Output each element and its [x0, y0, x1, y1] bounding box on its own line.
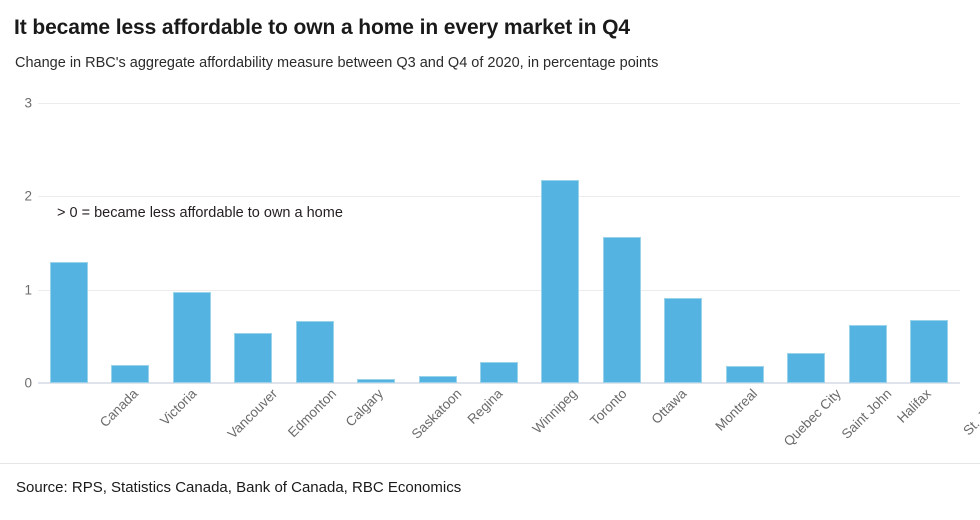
bar[interactable] — [849, 325, 887, 383]
chart-subtitle: Change in RBC's aggregate affordability … — [15, 55, 658, 71]
y-axis-tick-label: 3 — [2, 96, 32, 111]
bar[interactable] — [419, 376, 457, 383]
bar[interactable] — [50, 262, 88, 383]
x-axis-category-label: Montreal — [713, 386, 761, 434]
x-axis-category-label: Canada — [97, 386, 141, 430]
bar[interactable] — [234, 333, 272, 383]
x-axis-category-label: Quebec City — [781, 386, 844, 449]
y-axis-tick-label: 1 — [2, 282, 32, 297]
x-axis-category-label: Victoria — [157, 386, 199, 428]
bar-series — [38, 103, 960, 383]
bar[interactable] — [480, 362, 518, 383]
plot-area — [38, 103, 960, 383]
bar[interactable] — [603, 237, 641, 383]
x-axis-category-label: Toronto — [588, 386, 630, 428]
x-axis-category-label: Halifax — [894, 386, 934, 426]
threshold-annotation: > 0 = became less affordable to own a ho… — [57, 205, 343, 221]
bar[interactable] — [664, 298, 702, 383]
y-axis-tick-label: 0 — [2, 376, 32, 391]
bar[interactable] — [541, 180, 579, 383]
bar[interactable] — [357, 379, 395, 383]
x-axis-category-label: Ottawa — [648, 386, 689, 427]
page-title: It became less affordable to own a home … — [14, 16, 630, 40]
x-axis-category-label: Vancouver — [224, 386, 280, 442]
source-note: Source: RPS, Statistics Canada, Bank of … — [16, 479, 461, 496]
y-axis-tick-label: 2 — [2, 189, 32, 204]
bar[interactable] — [296, 321, 334, 383]
y-axis: 0123 — [0, 103, 32, 383]
bar[interactable] — [111, 365, 149, 383]
bar[interactable] — [910, 320, 948, 383]
x-axis-labels: CanadaVictoriaVancouverEdmontonCalgarySa… — [38, 386, 960, 466]
bar[interactable] — [726, 366, 764, 383]
x-axis-category-label: Saskatoon — [409, 386, 465, 442]
x-axis-category-label: Winnipeg — [529, 386, 579, 436]
bar[interactable] — [787, 353, 825, 383]
bar[interactable] — [173, 292, 211, 383]
x-axis-category-label: Edmonton — [285, 386, 339, 440]
x-axis-category-label: Saint John — [839, 386, 895, 442]
chart-page: It became less affordable to own a home … — [0, 0, 980, 520]
x-axis-category-label: Calgary — [342, 386, 386, 430]
footer-divider — [0, 463, 980, 464]
x-axis-category-label: St. John's — [961, 386, 980, 438]
x-axis-category-label: Regina — [464, 386, 505, 427]
